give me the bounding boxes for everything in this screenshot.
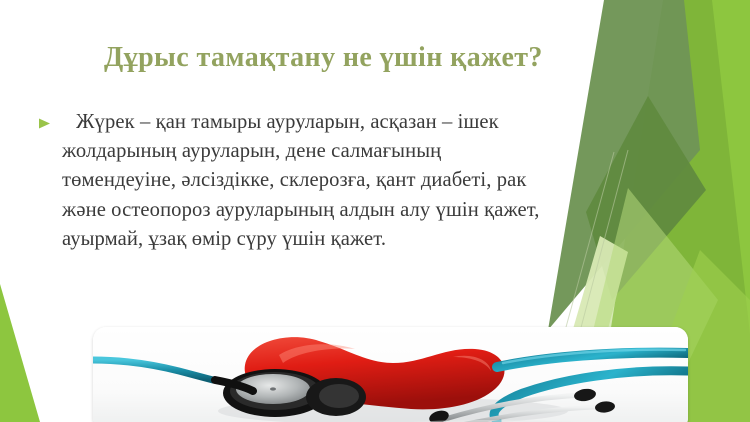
bg-shape-bottom-left-wedge <box>0 284 40 422</box>
stethoscope-diaphragm-center <box>270 387 276 390</box>
triangle-right-icon <box>38 116 51 127</box>
heart-and-stethoscope-photo <box>93 327 688 422</box>
body-paragraph: Жүрек – қан тамыры ауруларын, асқазан – … <box>62 108 558 254</box>
presentation-slide: Дұрыс тамақтану не үшін қажет? Жүрек – қ… <box>0 0 750 422</box>
stethoscope-bell-back-inner <box>319 384 359 408</box>
bg-shape-dark-green-triangle <box>586 96 706 300</box>
bullet-list-item: Жүрек – қан тамыры ауруларын, асқазан – … <box>38 108 558 254</box>
page-title: Дұрыс тамақтану не үшін қажет? <box>104 42 704 74</box>
